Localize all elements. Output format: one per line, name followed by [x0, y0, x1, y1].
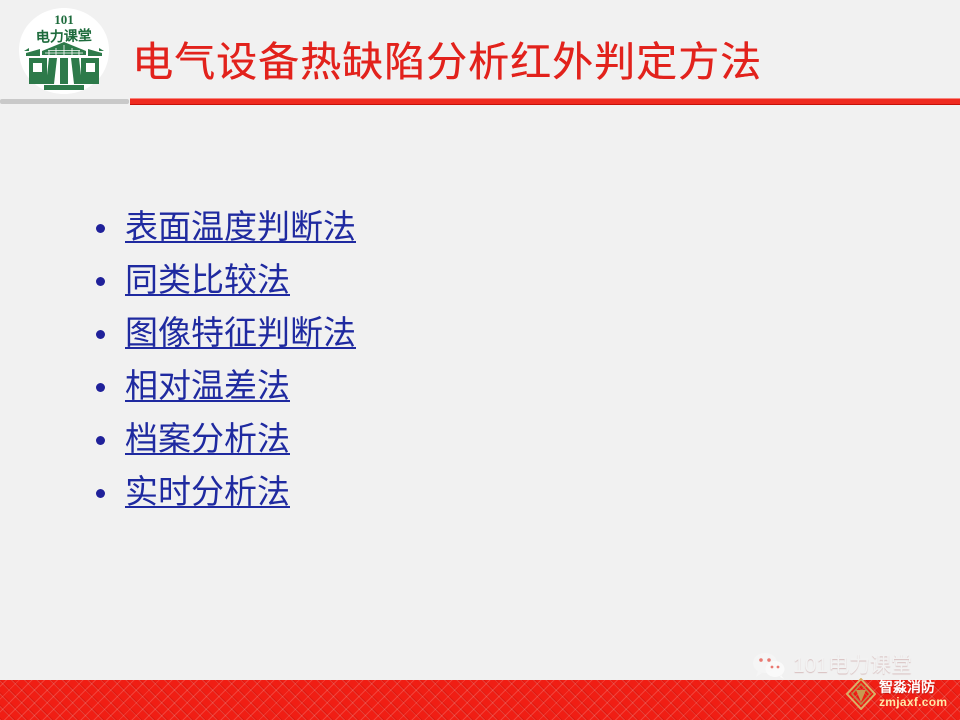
list-item-label: 表面温度判断法: [125, 206, 356, 250]
list-item-label: 相对温差法: [125, 365, 290, 409]
bullet-dot-icon: [96, 330, 105, 339]
wechat-watermark-label: 101电力课堂: [793, 654, 912, 678]
power-classroom-emblem-icon: 101 电力课堂: [16, 6, 112, 96]
bullet-dot-icon: [96, 436, 105, 445]
bullet-list: 表面温度判断法 同类比较法 图像特征判断法 相对温差法 档案分析法 实时分析法: [96, 206, 796, 524]
list-item-label: 档案分析法: [125, 418, 290, 462]
list-item[interactable]: 同类比较法: [96, 259, 796, 312]
list-item-label: 同类比较法: [125, 259, 290, 303]
footer-red-band: [0, 680, 960, 720]
wechat-icon: [752, 652, 786, 680]
header-divider-left: [0, 99, 129, 104]
list-item[interactable]: 相对温差法: [96, 365, 796, 418]
list-item[interactable]: 档案分析法: [96, 418, 796, 471]
slide-canvas: 101 电力课堂: [0, 0, 960, 720]
bullet-dot-icon: [96, 383, 105, 392]
bullet-dot-icon: [96, 224, 105, 233]
page-title: 电气设备热缺陷分析红外判定方法: [132, 36, 932, 88]
svg-text:101: 101: [54, 12, 74, 27]
list-item[interactable]: 图像特征判断法: [96, 312, 796, 365]
slide-header: 101 电力课堂: [0, 0, 960, 108]
wechat-watermark: 101电力课堂: [752, 652, 912, 680]
header-divider-right: [130, 98, 960, 105]
list-item-label: 图像特征判断法: [125, 312, 356, 356]
list-item[interactable]: 实时分析法: [96, 471, 796, 524]
list-item-label: 实时分析法: [125, 471, 290, 515]
list-item[interactable]: 表面温度判断法: [96, 206, 796, 259]
bullet-dot-icon: [96, 489, 105, 498]
bullet-dot-icon: [96, 277, 105, 286]
